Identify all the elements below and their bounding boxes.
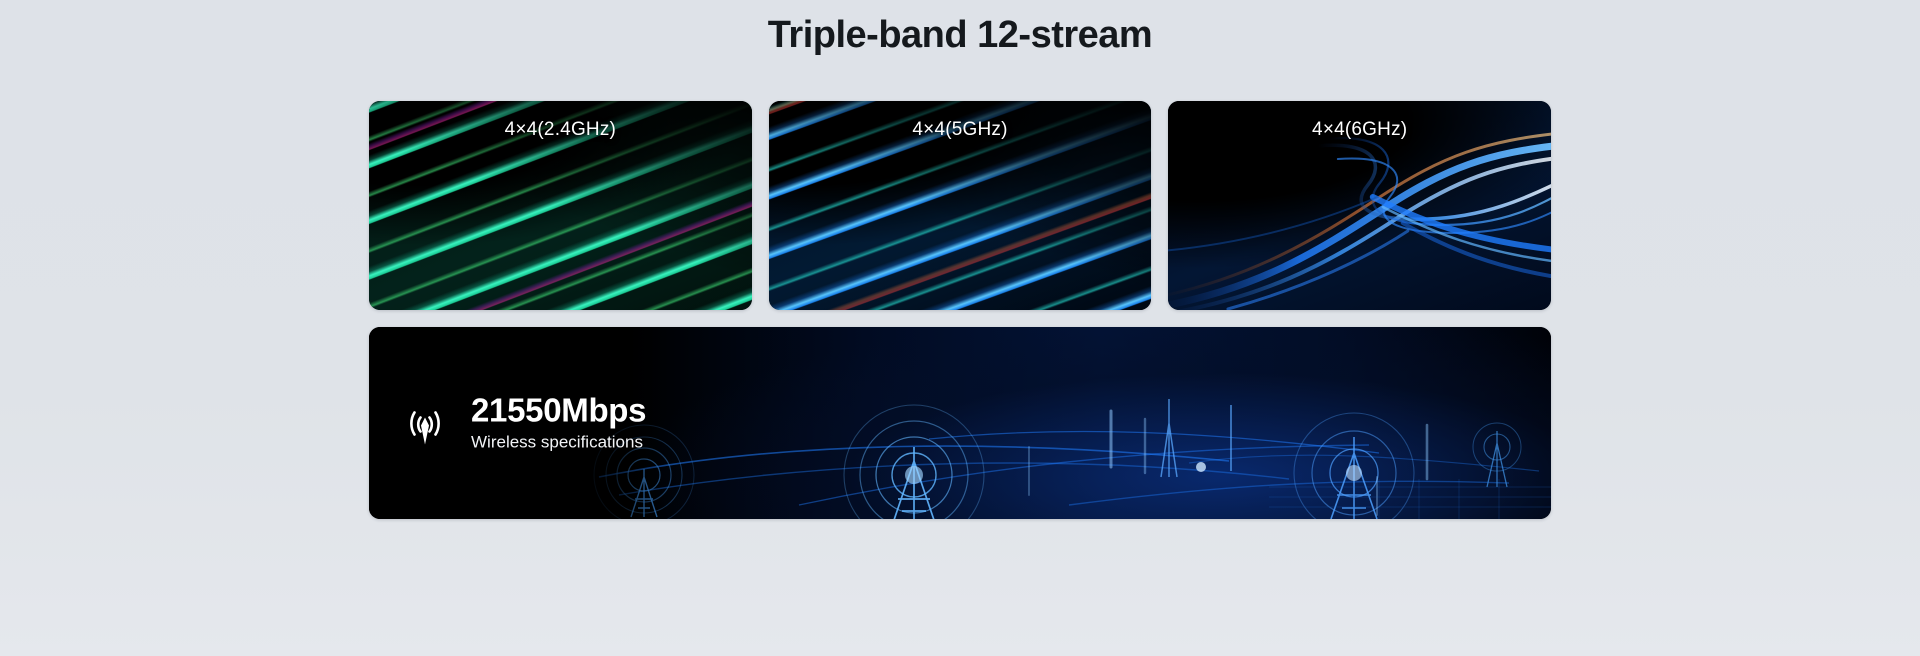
band-card-row: 4×4(2.4GHz) 4×4(5GHz) (369, 101, 1551, 310)
product-feature-section: Triple-band 12-stream 4×4(2.4GHz) 4×4(5G… (0, 0, 1920, 656)
band-label-2-4ghz: 4×4(2.4GHz) (369, 119, 752, 141)
page-title: Triple-band 12-stream (0, 8, 1920, 62)
spec-text-block: 21550Mbps Wireless specifications (471, 392, 646, 455)
spec-value: 21550Mbps (471, 392, 646, 430)
band-label-6ghz: 4×4(6GHz) (1168, 119, 1551, 141)
antenna-signal-icon (396, 394, 454, 452)
band-card-2-4ghz[interactable]: 4×4(2.4GHz) (369, 101, 752, 310)
wireless-spec-banner[interactable]: 21550Mbps Wireless specifications (369, 327, 1551, 519)
band-card-6ghz[interactable]: 4×4(6GHz) (1168, 101, 1551, 310)
band-card-5ghz[interactable]: 4×4(5GHz) (769, 101, 1152, 310)
spec-caption: Wireless specifications (471, 431, 646, 455)
band-label-5ghz: 4×4(5GHz) (769, 119, 1152, 141)
banner-content: 21550Mbps Wireless specifications (396, 392, 646, 455)
